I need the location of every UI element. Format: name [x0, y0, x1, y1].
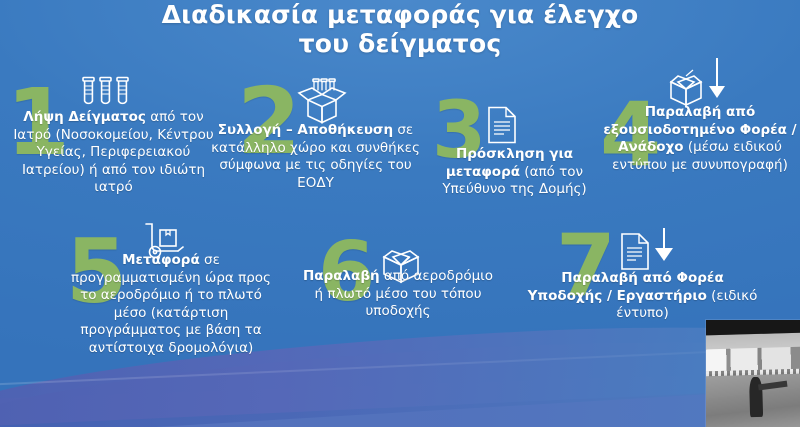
step-6-text: Παραλαβή από αεροδρόμιο ή πλωτό μέσο του…	[303, 268, 493, 321]
step-6-bold-label: Παραλαβή	[303, 268, 380, 284]
document-icon	[487, 106, 517, 144]
step-5-bold-label: Μεταφορά	[122, 252, 200, 268]
background-wave-back	[0, 367, 800, 427]
slide-title-line-1: Διαδικασία μεταφοράς για έλεγχο	[162, 0, 639, 29]
street-photo-black-and-white	[706, 320, 800, 427]
step-1-text: Λήψη Δείγματος από τον Ιατρό (Νοσοκομείο…	[6, 109, 221, 197]
step-2-bold-label: Συλλογή – Αποθήκευση	[218, 122, 393, 138]
step-7-text: Παραλαβή από Φορέα Υποδοχής / Εργαστήριο…	[525, 270, 760, 323]
photo-person	[749, 377, 762, 418]
step-2-text: Συλλογή – Αποθήκευση σε κατάλληλο χώρο κ…	[208, 122, 423, 192]
step-1-bold-label: Λήψη Δείγματος	[23, 109, 146, 125]
step-7-bold-label: Παραλαβή από Φορέα Υποδοχής / Εργαστήριο	[528, 270, 724, 304]
photo-top-band	[706, 320, 800, 336]
step-4-text: Παραλαβή από εξουσιοδοτημένο Φορέα / Ανά…	[600, 104, 800, 174]
photo-image	[706, 320, 800, 427]
slide-title: Διαδικασία μεταφοράς για έλεγχο του δείγ…	[0, 0, 800, 58]
infographic-slide: Διαδικασία μεταφοράς για έλεγχο του δείγ…	[0, 0, 800, 427]
photo-cars	[706, 346, 800, 371]
step-5-text: Μεταφορά σε προγραμματισμένη ώρα προς το…	[62, 252, 280, 357]
test-tubes-icon	[80, 76, 132, 110]
open-box-with-tubes-icon	[295, 78, 349, 124]
slide-title-line-2: του δείγματος	[0, 29, 800, 58]
step-3-text: Πρόσκληση για μεταφορά (από τον Υπεύθυνο…	[422, 146, 607, 199]
box-down-arrow-icon	[665, 56, 727, 108]
